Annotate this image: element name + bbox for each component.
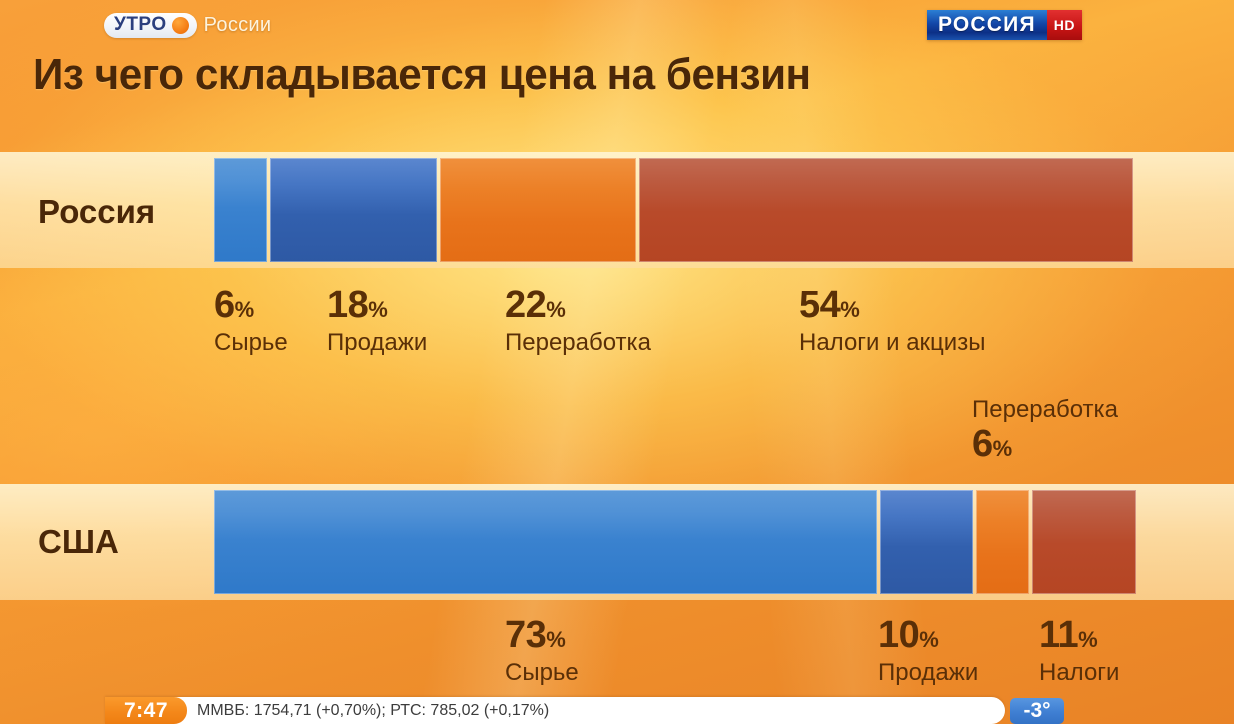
- bar-segment-sales-usa: [880, 490, 973, 594]
- callout-value: 54: [799, 284, 840, 326]
- callout-sales-russia: 18% Продажи: [327, 285, 427, 357]
- bar-segment-sales-russia: [270, 158, 437, 262]
- bar-segment-raw-usa: [214, 490, 877, 594]
- callout-value: 73: [505, 614, 546, 656]
- temperature-badge: -3°: [1010, 698, 1064, 724]
- callout-raw-usa: 73% Сырье: [505, 615, 579, 687]
- chart-row-label-usa: США: [38, 523, 119, 561]
- channel-hd-box: HD: [1047, 10, 1082, 40]
- ticker-clock: 7:47: [105, 697, 187, 724]
- sun-dot-icon: [172, 17, 189, 34]
- bar-segment-taxes-russia: [639, 158, 1133, 262]
- callout-caption: Налоги: [1039, 659, 1119, 687]
- callout-caption: Сырье: [214, 329, 288, 357]
- callout-value: 6: [972, 423, 993, 465]
- percent-sign: %: [993, 436, 1012, 461]
- program-logo-pill: УТРО: [104, 13, 197, 38]
- chart-row-label-russia: Россия: [38, 193, 155, 231]
- program-logo-sub-text: России: [204, 14, 272, 37]
- percent-sign: %: [235, 297, 254, 322]
- callout-caption: Продажи: [878, 659, 978, 687]
- news-ticker: 7:47 ММВБ: 1754,71 (+0,70%); РТС: 785,02…: [105, 697, 1005, 724]
- bar-segment-taxes-usa: [1032, 490, 1136, 594]
- percent-sign: %: [546, 297, 565, 322]
- channel-name-text: РОССИЯ: [938, 13, 1036, 37]
- bar-segment-refining-russia: [440, 158, 636, 262]
- percent-sign: %: [1078, 627, 1097, 652]
- bar-segment-raw-russia: [214, 158, 267, 262]
- callout-value: 18: [327, 284, 368, 326]
- callout-value: 22: [505, 284, 546, 326]
- channel-name-box: РОССИЯ: [927, 10, 1047, 40]
- callout-value: 11: [1039, 614, 1078, 656]
- callout-caption: Налоги и акцизы: [799, 329, 985, 357]
- percent-sign: %: [919, 627, 938, 652]
- page-title: Из чего складывается цена на бензин: [33, 50, 811, 100]
- callout-value: 6: [214, 284, 235, 326]
- callout-value: 10: [878, 614, 919, 656]
- callout-caption: Переработка: [972, 396, 1118, 424]
- program-logo-main-text: УТРО: [114, 15, 167, 35]
- percent-sign: %: [840, 297, 859, 322]
- stacked-bar-russia: [214, 158, 1133, 262]
- ticker-markets-text: ММВБ: 1754,71 (+0,70%); РТС: 785,02 (+0,…: [187, 702, 549, 720]
- channel-hd-text: HD: [1054, 17, 1075, 33]
- percent-sign: %: [546, 627, 565, 652]
- callout-sales-usa: 10% Продажи: [878, 615, 978, 687]
- callout-caption: Продажи: [327, 329, 427, 357]
- callout-taxes-usa: 11% Налоги: [1039, 615, 1119, 687]
- ticker-clock-text: 7:47: [124, 699, 168, 723]
- percent-sign: %: [368, 297, 387, 322]
- callout-refining-russia: 22% Переработка: [505, 285, 651, 357]
- callout-taxes-russia: 54% Налоги и акцизы: [799, 285, 985, 357]
- callout-refining-usa: Переработка 6%: [972, 396, 1118, 469]
- callout-caption: Переработка: [505, 329, 651, 357]
- program-logo: УТРО России: [104, 13, 271, 38]
- bar-segment-refining-usa: [976, 490, 1029, 594]
- channel-bug: РОССИЯ HD: [927, 10, 1082, 40]
- temperature-text: -3°: [1023, 699, 1050, 723]
- stacked-bar-usa: [214, 490, 1136, 594]
- callout-raw-russia: 6% Сырье: [214, 285, 288, 357]
- callout-caption: Сырье: [505, 659, 579, 687]
